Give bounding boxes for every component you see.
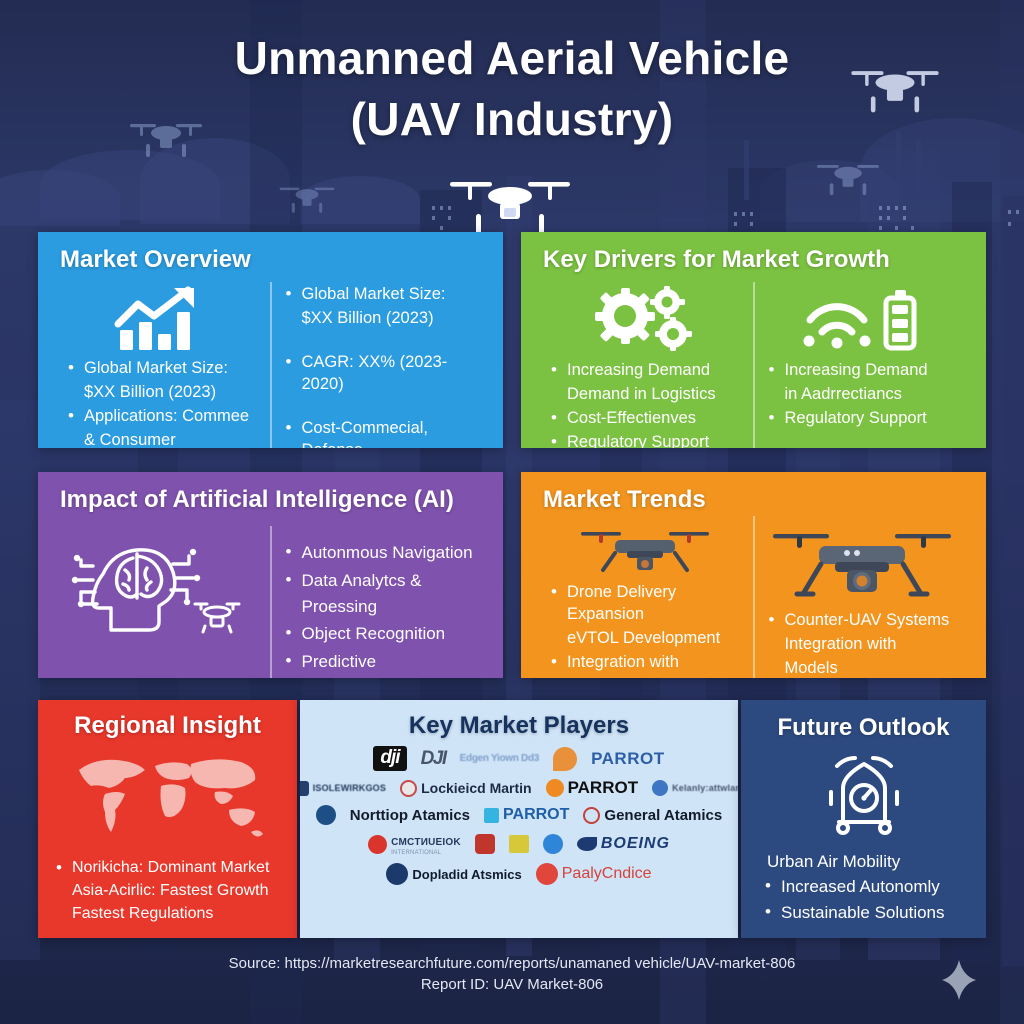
- square-mark-icon: [300, 781, 309, 796]
- list-item: Cost-Effectienves: [551, 408, 743, 430]
- logo-red-round[interactable]: PaalyCndice: [536, 863, 652, 885]
- infographic-canvas: Unmanned Aerial Vehicle (UAV Industry) M…: [0, 0, 1024, 1024]
- logo-blue-mark[interactable]: [543, 834, 563, 854]
- logo-general-atomics[interactable]: General Atamics: [583, 807, 722, 824]
- orange-bird-icon: [553, 747, 577, 771]
- red-dji-icon: [368, 835, 387, 854]
- panel-heading: Key Drivers for Market Growth: [543, 246, 986, 274]
- navy-round-icon: [386, 863, 408, 885]
- ai-bullets: Autonmous Navigation Data Analytcs & Pro…: [286, 540, 478, 678]
- list-item: Regulatory Support: [769, 408, 961, 430]
- market-trends-right-column: Counter-UAV Systems Integration with Mod…: [753, 516, 971, 678]
- panel-heading: Market Trends: [543, 486, 986, 514]
- drone-silhouette-icon: [806, 150, 890, 200]
- logo-subtext: INTERNATIONAL: [391, 850, 461, 856]
- market-overview-left-column: Global Market Size: $XX Billion (2023) A…: [54, 282, 270, 448]
- logo-row: Norttiop Atamics PARROT General Atamics: [314, 805, 724, 825]
- title-line-2: (UAV Industry): [0, 89, 1024, 150]
- gears-icon: [547, 286, 743, 354]
- navy-circle-icon: [316, 805, 336, 825]
- list-item: Increasing Demand: [551, 360, 743, 382]
- market-trends-left-bullets: Drone Delivery Expansion eVTOL Developme…: [551, 582, 743, 678]
- panel-heading: Regional Insight: [38, 712, 297, 740]
- logo-parrot-cyan[interactable]: PARROT: [484, 806, 569, 824]
- list-item: Autonmous Navigation: [286, 540, 478, 566]
- wifi-battery-icon: [765, 286, 961, 354]
- panel-heading: Impact of Artificial Intelligence (AI): [60, 486, 503, 514]
- logo-blurred-vendor[interactable]: Kelanly:attwlars: [652, 780, 738, 796]
- title-line-1: Unmanned Aerial Vehicle: [0, 28, 1024, 89]
- key-drivers-left-bullets: Increasing Demand Demand in Logistics Co…: [551, 360, 743, 448]
- air-taxi-icon: [751, 752, 976, 838]
- source-url[interactable]: Source: https://marketresearchfuture.com…: [0, 953, 1024, 974]
- list-item: Data Analytcs & Proessing: [286, 568, 478, 620]
- list-item: Urban Air Mobility: [765, 850, 976, 873]
- logo-dji[interactable]: dji: [373, 746, 406, 771]
- panel-ai-impact[interactable]: Impact of Artificial Intelligence (AI): [38, 472, 503, 678]
- red-round-icon: [536, 863, 558, 885]
- logo-northrop[interactable]: Norttiop Atamics: [350, 807, 470, 824]
- logo-solidworks[interactable]: ISOLEWIRKGOS: [300, 781, 386, 796]
- brain-head-drone-icon: [64, 530, 260, 642]
- logo-navy-round[interactable]: Dopladid Atsmics: [386, 863, 521, 885]
- logo-dji-red[interactable]: CMCTИUЕIOK INTERNATIONAL: [368, 832, 461, 856]
- yellow-square-icon: [509, 835, 529, 853]
- list-item: Applications: Commee: [68, 406, 260, 428]
- footer: Source: https://marketresearchfuture.com…: [0, 953, 1024, 996]
- future-outlook-bullets: Urban Air Mobility Increased Autonomly S…: [765, 850, 976, 924]
- logo-boeing[interactable]: BOEING: [577, 835, 670, 853]
- list-item: $XX Billion (2023): [286, 308, 478, 330]
- market-trends-left-column: Drone Delivery Expansion eVTOL Developme…: [537, 516, 753, 678]
- logo-blurred-vendor[interactable]: Edgen Yiown Dd3: [460, 753, 539, 764]
- list-item: & Consumer: [68, 430, 260, 448]
- list-item: Fastest Regulations: [56, 904, 283, 925]
- logo-parrot-blue[interactable]: PARROT: [591, 749, 665, 769]
- logo-lockheed-martin[interactable]: Lockieicd Martin: [400, 780, 531, 797]
- growth-chart-icon: [64, 286, 260, 352]
- logo-row: Dopladid Atsmics PaalyCndice: [314, 863, 724, 885]
- list-item: $XX Billion (2023): [68, 382, 260, 404]
- panel-heading: Key Market Players: [300, 712, 738, 740]
- list-item: Global Market Size:: [68, 358, 260, 380]
- circle-mark-icon: [400, 780, 417, 797]
- list-item: Integration with: [551, 652, 743, 674]
- key-drivers-right-bullets: Increasing Demand in Aadrrectiancs Regul…: [769, 360, 961, 430]
- panel-heading: Future Outlook: [741, 714, 986, 742]
- list-item: Demand in Logistics: [551, 384, 743, 406]
- logo-orange-mark[interactable]: [553, 747, 577, 771]
- world-map-icon: [52, 748, 283, 844]
- key-drivers-left-column: Increasing Demand Demand in Logistics Co…: [537, 282, 753, 448]
- list-item: Sustainable Solutions: [765, 901, 976, 924]
- blue-round-icon: [543, 834, 563, 854]
- panel-regional-insight[interactable]: Regional Insight Norikicha: Dominant Mar…: [38, 700, 297, 938]
- ai-bullets-column: Autonmous Navigation Data Analytcs & Pro…: [270, 526, 488, 678]
- cyan-square-icon: [484, 808, 499, 823]
- market-overview-left-bullets: Global Market Size: $XX Billion (2023) A…: [68, 358, 260, 448]
- list-item: Counter-UAV Systems: [769, 610, 961, 632]
- logo-yellow-mark[interactable]: [509, 835, 529, 853]
- list-item: Norikicha: Dominant Market: [56, 858, 283, 879]
- drone-silhouette-icon: [272, 175, 342, 217]
- list-item: Integration with: [769, 634, 961, 656]
- blue-circle-icon: [652, 780, 668, 796]
- report-id: Report ID: UAV Market-806: [0, 974, 1024, 995]
- list-item: Predictive Maintenance: [286, 649, 478, 678]
- list-item: Increasing Demand: [769, 360, 961, 382]
- quadcopter-drone-large-icon: [765, 520, 961, 604]
- logo-row: ISOLEWIRKGOS Lockieicd Martin PARROT Kel…: [314, 778, 724, 798]
- logo-row: dji DJI Edgen Yiown Dd3 PARROT: [314, 746, 724, 771]
- list-item: IOT & 56: [551, 676, 743, 678]
- list-item: Models: [769, 658, 961, 678]
- regional-insight-bullets: Norikicha: Dominant Market Asia-Acirlic:…: [56, 858, 283, 924]
- sparkle-icon: [940, 958, 978, 1007]
- logo-row: CMCTИUЕIOK INTERNATIONAL BOEING: [314, 832, 724, 856]
- logo-parrot-dark[interactable]: PARROT: [546, 778, 639, 798]
- list-item: CAGR: XX% (2023-2020): [286, 352, 478, 396]
- logo-navy-mark[interactable]: [316, 805, 336, 825]
- market-trends-right-bullets: Counter-UAV Systems Integration with Mod…: [769, 610, 961, 678]
- panel-key-market-players[interactable]: Key Market Players dji DJI Edgen Yiown D…: [300, 700, 738, 938]
- list-item: Drone Delivery Expansion: [551, 582, 743, 626]
- logo-dji-alt[interactable]: DJI: [421, 748, 446, 770]
- quadcopter-drone-icon: [547, 520, 743, 576]
- market-overview-right-bullets: Global Market Size: $XX Billion (2023) C…: [286, 284, 478, 448]
- logo-red-mark[interactable]: [475, 834, 495, 854]
- panel-market-trends[interactable]: Market Trends: [521, 472, 986, 678]
- panel-future-outlook[interactable]: Future Outlook Urban Air Mo: [741, 700, 986, 938]
- orange-circle-icon: [546, 779, 564, 797]
- red-circle-icon: [583, 807, 600, 824]
- list-item: in Aadrrectiancs: [769, 384, 961, 406]
- ai-icon-column: [54, 526, 270, 678]
- list-item: Increased Autonomly: [765, 875, 976, 898]
- page-title: Unmanned Aerial Vehicle (UAV Industry): [0, 28, 1024, 149]
- panel-heading: Market Overview: [60, 246, 503, 274]
- panel-market-overview[interactable]: Market Overview: [38, 232, 503, 448]
- list-item: Regulatory Support: [551, 432, 743, 448]
- list-item: eVTOL Development: [551, 628, 743, 650]
- logo-grid: dji DJI Edgen Yiown Dd3 PARROT IS: [300, 742, 738, 900]
- panel-key-drivers[interactable]: Key Drivers for Market Growth: [521, 232, 986, 448]
- list-item: Cost-Commecial, Defense,: [286, 418, 478, 448]
- red-square-icon: [475, 834, 495, 854]
- list-item: Asia-Acirlic: Fastest Growth: [56, 881, 283, 902]
- list-item: Object Recognition: [286, 621, 478, 647]
- market-overview-right-column: Global Market Size: $XX Billion (2023) C…: [270, 282, 488, 448]
- boeing-swoosh-icon: [577, 837, 597, 851]
- list-item: Global Market Size:: [286, 284, 478, 306]
- key-drivers-right-column: Increasing Demand in Aadrrectiancs Regul…: [753, 282, 971, 448]
